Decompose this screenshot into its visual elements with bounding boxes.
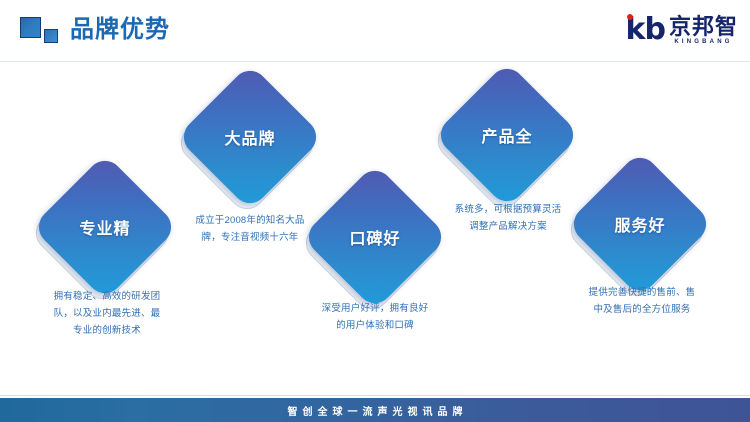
header-divider — [0, 61, 750, 62]
feature-description-4: 系统多，可根据预算灵活 调整产品解决方案 — [426, 201, 590, 235]
diamond-label-3: 口碑好 — [323, 185, 427, 289]
brand-logo: kb 京邦智 KINGBANG — [626, 12, 738, 48]
feature-description-3: 深受用户好评，拥有良好 的用户体验和口碑 — [293, 300, 457, 334]
logo-chinese-name: 京邦智 — [669, 15, 738, 38]
logo-english-name: KINGBANG — [669, 38, 738, 46]
diamond-shape-3[interactable]: 口碑好 — [323, 185, 427, 289]
slide-header: 品牌优势 kb 京邦智 KINGBANG — [0, 0, 750, 62]
diamond-label-1: 专业精 — [53, 175, 157, 279]
logo-text-block: 京邦智 KINGBANG — [669, 15, 738, 46]
footer-bar: 智创全球一流声光视讯品牌 — [0, 398, 750, 422]
diamond-shape-4[interactable]: 产品全 — [455, 83, 559, 187]
diamond-shape-2[interactable]: 大品牌 — [198, 85, 302, 189]
square-marker-small-icon — [44, 29, 58, 43]
diamond-label-2: 大品牌 — [198, 85, 302, 189]
logo-red-dot-icon — [627, 14, 633, 20]
page-title: 品牌优势 — [70, 13, 170, 47]
logo-mark-kb: kb — [626, 15, 665, 45]
square-marker-large-icon — [20, 17, 41, 38]
slide-canvas: 品牌优势 kb 京邦智 KINGBANG 专业精 拥有稳定、高效的研发团 队，以… — [0, 0, 750, 422]
diamond-shape-5[interactable]: 服务好 — [588, 172, 692, 276]
footer-divider — [0, 395, 750, 396]
feature-description-5: 提供完善快捷的售前、售 中及售后的全方位服务 — [558, 284, 726, 318]
diamond-label-4: 产品全 — [455, 83, 559, 187]
footer-slogan: 智创全球一流声光视讯品牌 — [283, 403, 468, 418]
diamond-shape-1[interactable]: 专业精 — [53, 175, 157, 279]
diamond-label-5: 服务好 — [588, 172, 692, 276]
feature-description-1: 拥有稳定、高效的研发团 队，以及业内最先进、最 专业的创新技术 — [22, 288, 192, 339]
